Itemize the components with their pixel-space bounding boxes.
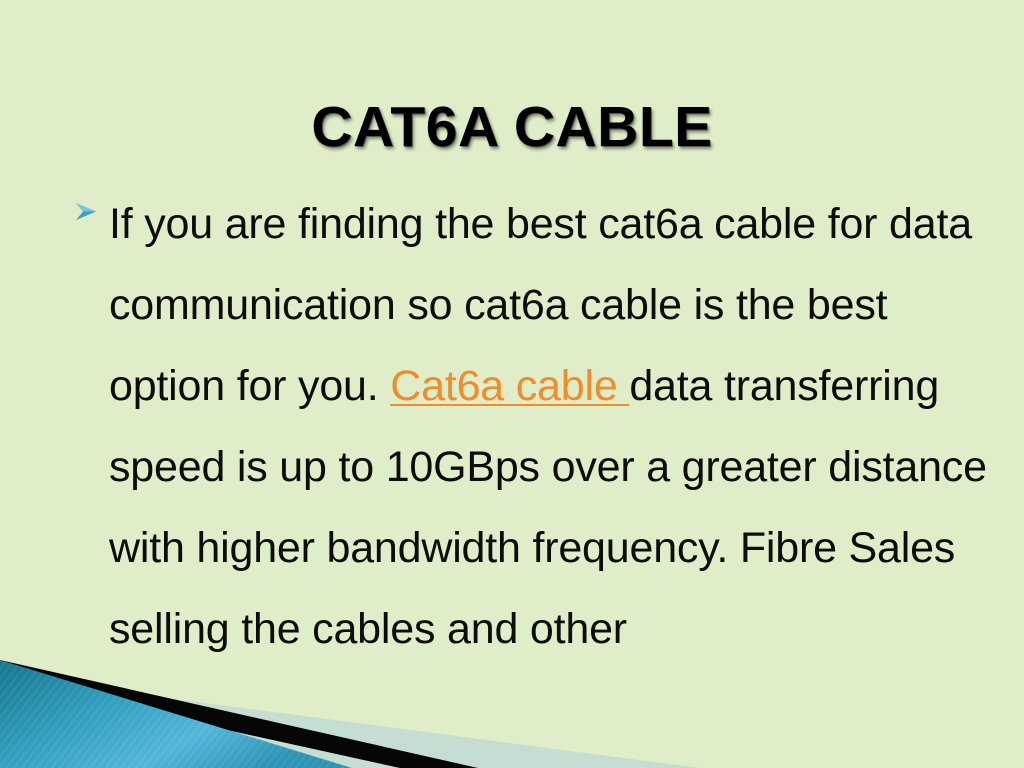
- title-block: CAT6A CABLE: [0, 58, 1024, 198]
- body-content-block: If you are finding the best cat6a cable …: [66, 184, 996, 670]
- teal-gradient-wedge: [0, 660, 352, 768]
- pale-band-wedge: [0, 676, 700, 768]
- bullet-list-item: If you are finding the best cat6a cable …: [66, 184, 996, 670]
- slide-canvas: CAT6A CABLE If you are finding the best …: [0, 0, 1024, 768]
- arrowhead-bullet-icon: [73, 198, 101, 226]
- body-paragraph: If you are finding the best cat6a cable …: [66, 184, 996, 670]
- cat6a-cable-link[interactable]: Cat6a cable: [390, 362, 629, 410]
- teal-wedge-texture: [0, 660, 352, 768]
- page-title: CAT6A CABLE: [311, 96, 712, 160]
- black-stripe-wedge: [0, 660, 478, 768]
